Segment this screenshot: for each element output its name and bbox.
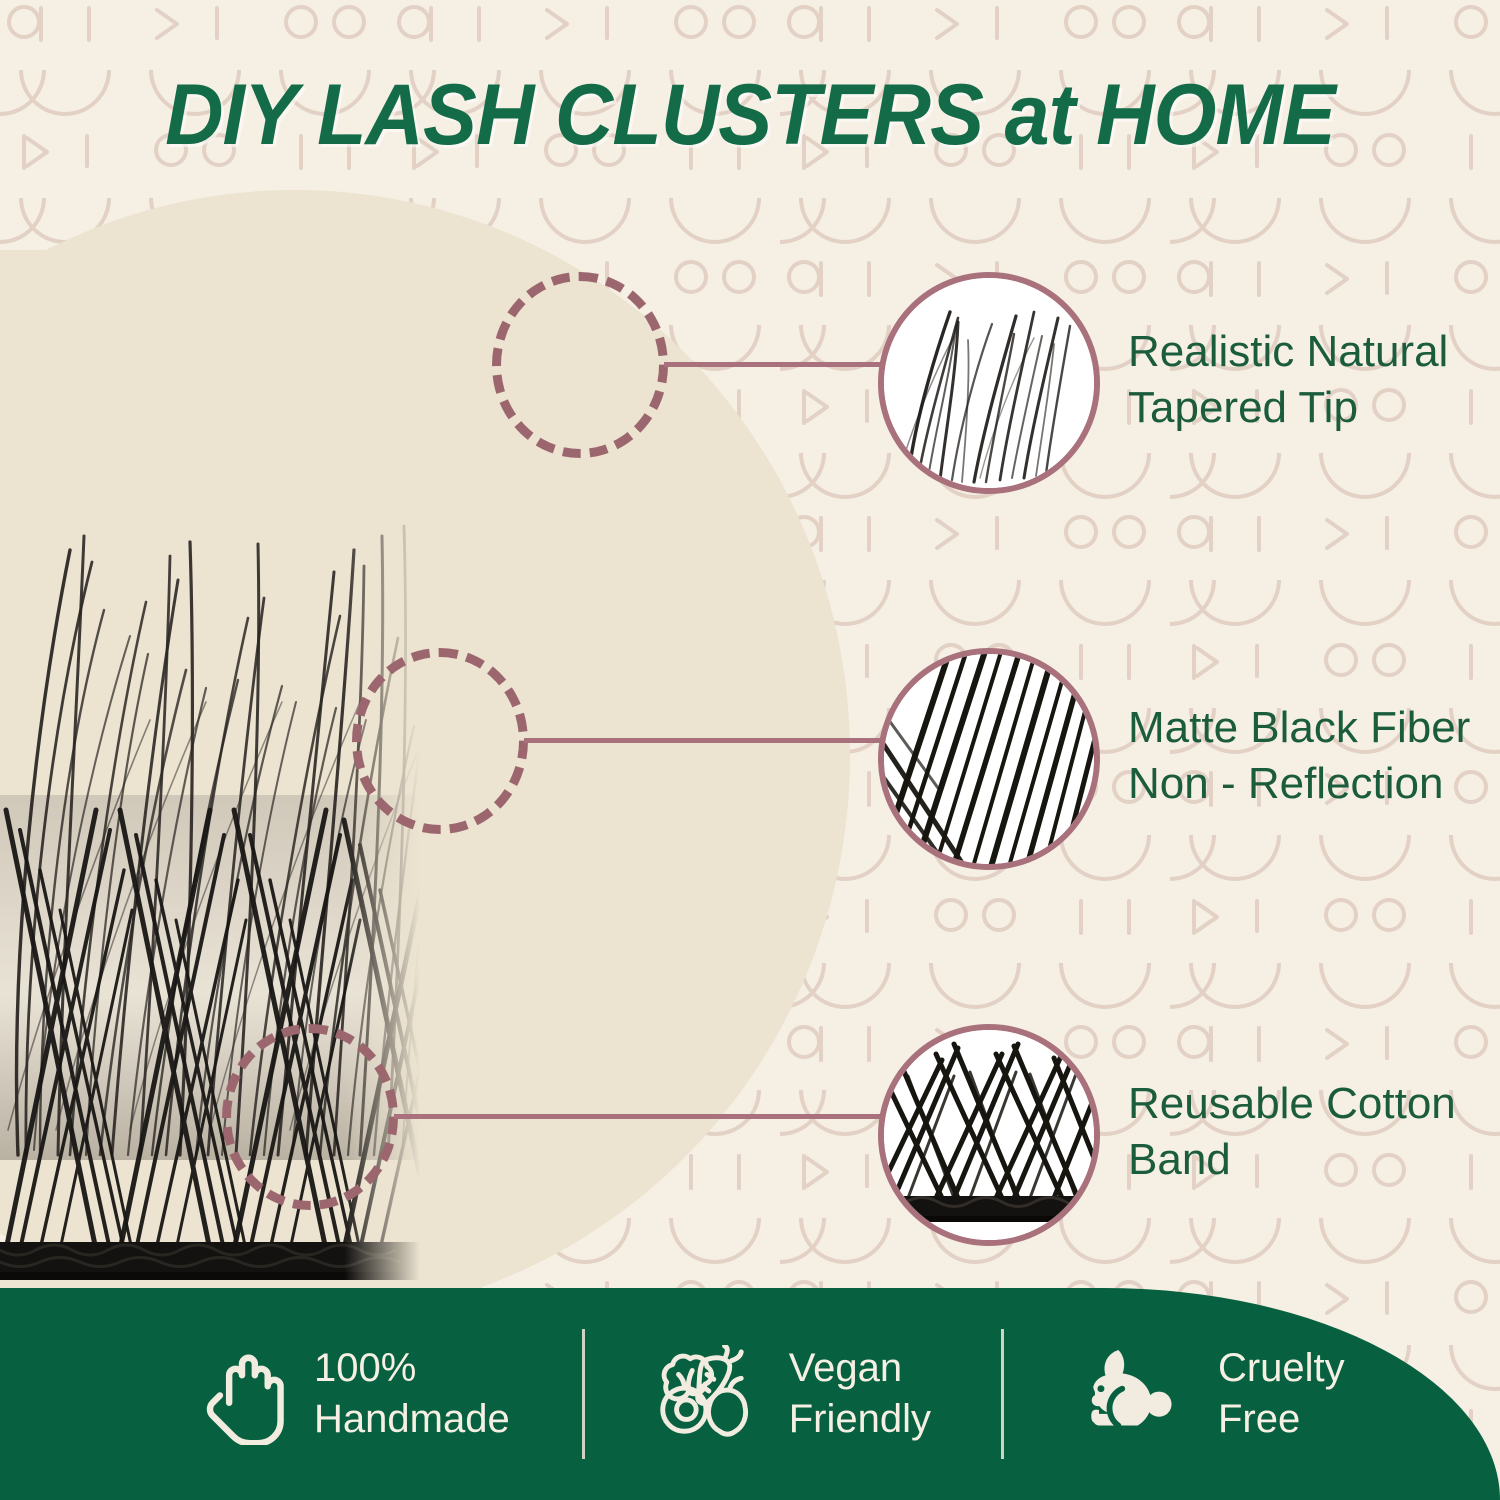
callout-label-cotton-band: Reusable Cotton Band <box>1128 1076 1488 1189</box>
badge-vegan-label: Vegan Friendly <box>789 1343 931 1445</box>
hand-icon <box>196 1344 288 1445</box>
connector-line-tapered-tip <box>694 362 884 367</box>
badge-vegan: Vegan Friendly <box>645 1343 931 1445</box>
dashed-ring-stub-3 <box>394 1114 428 1119</box>
badge-divider-2 <box>1001 1329 1004 1459</box>
badge-cruelty-free-label: Cruelty Free <box>1218 1343 1345 1445</box>
infographic-page: DIY LASH CLUSTERS at HOME <box>0 0 1500 1500</box>
footer-badge-bar: 100% Handmade <box>0 1288 1500 1500</box>
magnifier-tapered-tip <box>878 272 1100 494</box>
magnifier-matte-fiber <box>878 648 1100 870</box>
badge-cruelty-free: Cruelty Free <box>1066 1343 1345 1445</box>
dashed-ring-stub-2 <box>524 738 558 743</box>
page-title: DIY LASH CLUSTERS at HOME <box>45 72 1455 158</box>
dashed-ring-matte-fiber <box>352 648 528 834</box>
connector-line-matte-fiber <box>554 738 884 743</box>
callout-label-tapered-tip: Realistic Natural Tapered Tip <box>1128 324 1478 437</box>
dashed-ring-cotton-band <box>222 1024 398 1210</box>
vegetables-icon <box>645 1345 763 1443</box>
magnifier-cotton-band <box>878 1024 1100 1246</box>
badge-handmade: 100% Handmade <box>196 1343 510 1445</box>
badge-handmade-label: 100% Handmade <box>314 1343 510 1445</box>
dashed-ring-stub-1 <box>664 362 698 367</box>
connector-line-cotton-band <box>424 1114 884 1119</box>
rabbit-icon <box>1066 1350 1192 1439</box>
callout-label-matte-fiber: Matte Black Fiber Non - Reflection <box>1128 700 1488 813</box>
badge-divider-1 <box>582 1329 585 1459</box>
dashed-ring-tapered-tip <box>492 272 668 458</box>
